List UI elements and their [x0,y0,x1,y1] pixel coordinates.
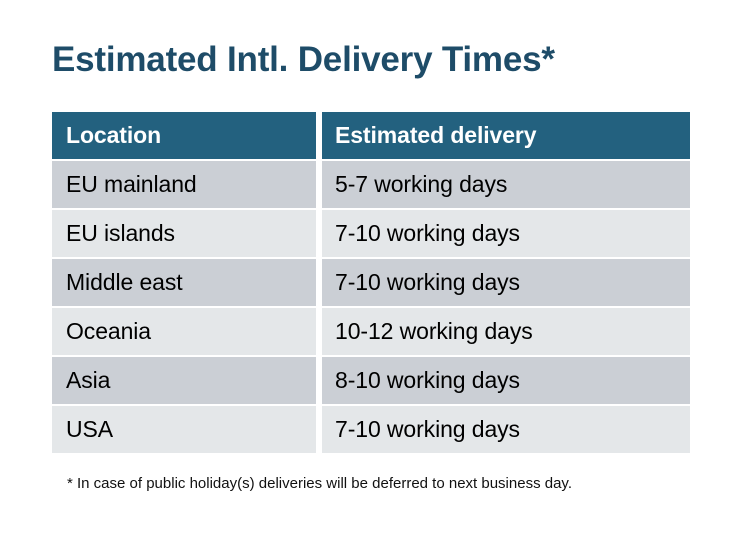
delivery-times-table: Location Estimated delivery EU mainland … [52,112,690,453]
column-header-estimated-delivery: Estimated delivery [322,112,690,159]
cell-delivery: 7-10 working days [322,259,690,306]
cell-location: EU islands [52,210,316,257]
cell-delivery: 7-10 working days [322,210,690,257]
column-header-location: Location [52,112,316,159]
cell-location: Oceania [52,308,316,355]
table-row: EU mainland 5-7 working days [52,161,690,208]
footnote: * In case of public holiday(s) deliverie… [67,474,707,494]
table-row: EU islands 7-10 working days [52,210,690,257]
table-header-row: Location Estimated delivery [52,112,690,159]
table-row: Oceania 10-12 working days [52,308,690,355]
cell-delivery: 8-10 working days [322,357,690,404]
cell-location: Asia [52,357,316,404]
cell-delivery: 7-10 working days [322,406,690,453]
table-row: USA 7-10 working days [52,406,690,453]
page-title: Estimated Intl. Delivery Times* [52,36,692,84]
table-row: Asia 8-10 working days [52,357,690,404]
table-row: Middle east 7-10 working days [52,259,690,306]
cell-location: Middle east [52,259,316,306]
cell-delivery: 5-7 working days [322,161,690,208]
cell-delivery: 10-12 working days [322,308,690,355]
cell-location: USA [52,406,316,453]
delivery-times-page: Estimated Intl. Delivery Times* Location… [0,0,745,536]
cell-location: EU mainland [52,161,316,208]
